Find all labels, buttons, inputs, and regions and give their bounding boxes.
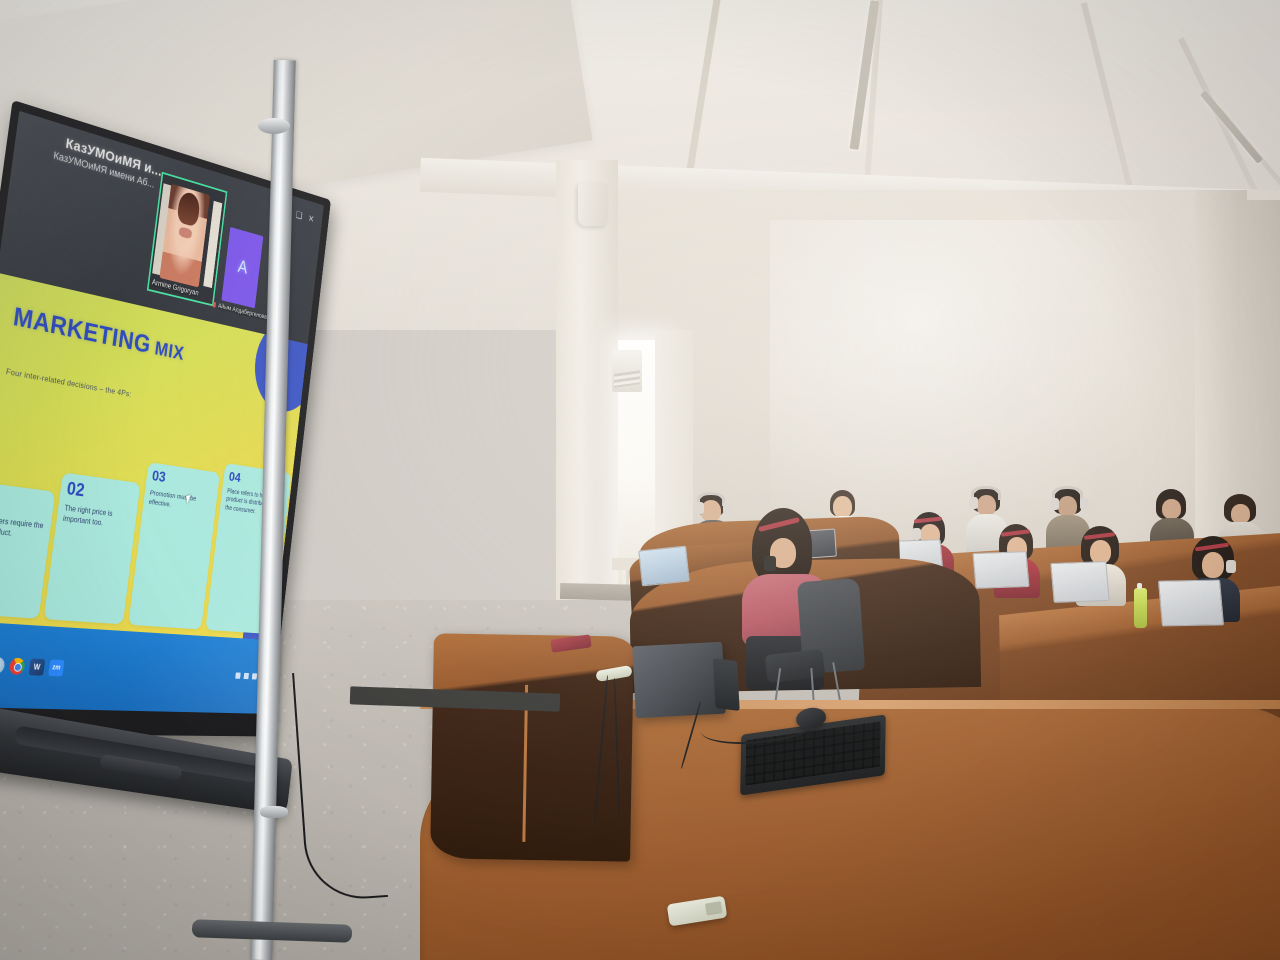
laptop (1052, 562, 1112, 608)
card-text: The right price is important too. (62, 503, 131, 532)
zoom-app-icon[interactable]: zm (48, 660, 64, 677)
laptop (1160, 580, 1226, 632)
display-power-cable (292, 667, 388, 902)
classroom-scene: КазУМОиМЯ и... КазУМОиМЯ имени Аб... — ❑… (0, 0, 1280, 960)
pole-ring (260, 806, 288, 818)
battery-icon[interactable] (252, 673, 257, 679)
slide-title-light: MIX (154, 338, 186, 365)
headset-cup (764, 556, 776, 571)
laptop (640, 548, 692, 590)
air-conditioner-icon (612, 350, 642, 392)
laptop-lid (1050, 561, 1110, 603)
microphone-muted-icon (212, 302, 215, 308)
close-icon[interactable]: ✕ (308, 212, 315, 224)
headset-cup (1080, 498, 1089, 510)
card-number: 01 (0, 488, 48, 515)
laptop (974, 552, 1032, 594)
headset-cup (969, 497, 978, 509)
card-text: Promotion must be effective. (148, 488, 211, 514)
headset-cup (695, 502, 704, 514)
slide-title: MARKETINGMIX (12, 302, 186, 367)
pole-ceiling-cap (258, 118, 290, 134)
slide-card: 03 Promotion must be effective. (128, 462, 220, 630)
interactive-display-assembly: КазУМОиМЯ и... КазУМОиМЯ имени Аб... — ❑… (0, 60, 440, 870)
volume-icon[interactable] (243, 673, 249, 679)
head (1162, 499, 1181, 519)
slide-card: 02 The right price is important too. (44, 473, 141, 625)
chrome-browser-icon[interactable] (9, 658, 26, 675)
slide-subtitle: Four inter-related decisions – the 4Ps: (6, 366, 132, 398)
desktop-speaker (632, 642, 726, 719)
laptop-lid (638, 546, 690, 587)
network-icon[interactable] (235, 673, 241, 679)
slide-title-strong: MARKETING (12, 302, 153, 359)
word-document-icon[interactable]: W (29, 659, 46, 676)
laptop-lid (972, 551, 1029, 589)
laptop-lid (1158, 580, 1224, 627)
card-number: 02 (66, 480, 135, 506)
slide-cards: 01 Consumers require the right product. … (0, 424, 293, 635)
headset-cup (1226, 560, 1236, 573)
participant-tile-video[interactable]: Armine Grigoryan (147, 172, 228, 307)
wall-pillar (556, 160, 618, 640)
wall-speaker-icon (578, 182, 608, 226)
maximize-icon[interactable]: ❑ (295, 209, 303, 222)
headset-cup (723, 502, 732, 514)
card-text: Consumers require the right product. (0, 512, 45, 542)
avatar-initial: A (237, 257, 249, 279)
edge-browser-icon[interactable] (0, 657, 6, 675)
podium (430, 633, 634, 861)
headset-cup (1050, 498, 1059, 510)
head (833, 496, 852, 518)
head (1202, 552, 1224, 578)
drink-bottle (1134, 588, 1147, 628)
headset-cup (912, 528, 921, 540)
head (1231, 504, 1250, 524)
